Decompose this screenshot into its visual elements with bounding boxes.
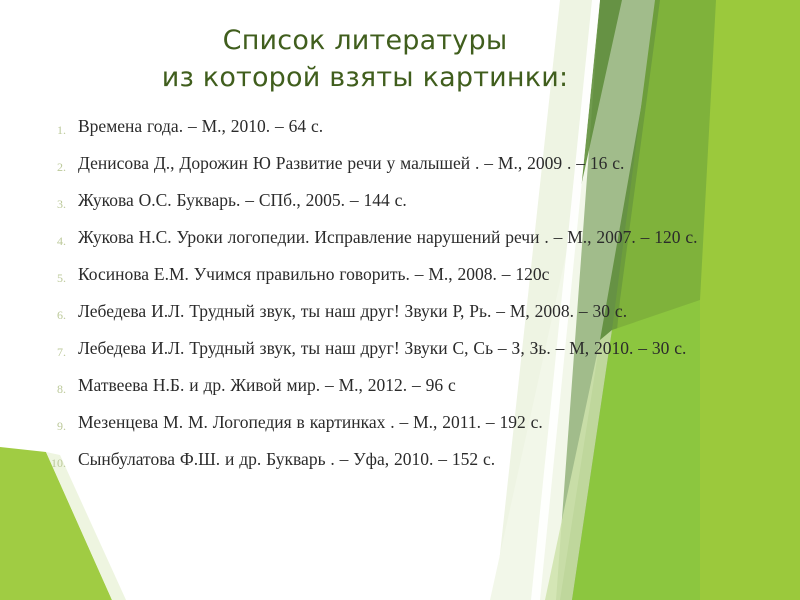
list-item: 7. Лебедева И.Л. Трудный звук, ты наш др…	[22, 337, 784, 363]
list-item-text: Матвеева Н.Б. и др. Живой мир. – М., 201…	[78, 374, 784, 396]
list-item: 4. Жукова Н.С. Уроки логопедии. Исправле…	[22, 226, 784, 252]
list-item-text: Жукова Н.С. Уроки логопедии. Исправление…	[78, 226, 784, 248]
list-item: 1. Времена года. – М., 2010. – 64 с.	[22, 115, 784, 141]
list-item-text: Лебедева И.Л. Трудный звук, ты наш друг!…	[78, 337, 784, 359]
page-title: Список литературы из которой взяты карти…	[0, 22, 730, 96]
list-item: 9. Мезенцева М. М. Логопедия в картинках…	[22, 411, 784, 437]
list-item: 2. Денисова Д., Дорожин Ю Развитие речи …	[22, 152, 784, 178]
list-item-number: 5.	[22, 263, 78, 289]
list-item-number: 10.	[22, 448, 78, 474]
title-line-1: Список литературы	[0, 22, 730, 59]
list-item: 8. Матвеева Н.Б. и др. Живой мир. – М., …	[22, 374, 784, 400]
list-item: 5. Косинова Е.М. Учимся правильно говори…	[22, 263, 784, 289]
list-item-text: Сынбулатова Ф.Ш. и др. Букварь . – Уфа, …	[78, 448, 784, 470]
list-item: 6. Лебедева И.Л. Трудный звук, ты наш др…	[22, 300, 784, 326]
list-item-number: 3.	[22, 189, 78, 215]
list-item-number: 9.	[22, 411, 78, 437]
list-item-text: Жукова О.С. Букварь. – СПб., 2005. – 144…	[78, 189, 784, 211]
list-item-number: 7.	[22, 337, 78, 363]
list-item-text: Денисова Д., Дорожин Ю Развитие речи у м…	[78, 152, 784, 174]
list-item-text: Лебедева И.Л. Трудный звук, ты наш друг!…	[78, 300, 784, 322]
list-item: 10. Сынбулатова Ф.Ш. и др. Букварь . – У…	[22, 448, 784, 474]
list-item: 3. Жукова О.С. Букварь. – СПб., 2005. – …	[22, 189, 784, 215]
list-item-text: Косинова Е.М. Учимся правильно говорить.…	[78, 263, 784, 285]
title-line-2: из которой взяты картинки:	[0, 59, 730, 96]
list-item-number: 4.	[22, 226, 78, 252]
list-item-text: Времена года. – М., 2010. – 64 с.	[78, 115, 784, 137]
slide-content: Список литературы из которой взяты карти…	[0, 0, 800, 600]
list-item-number: 1.	[22, 115, 78, 141]
list-item-number: 6.	[22, 300, 78, 326]
list-item-number: 8.	[22, 374, 78, 400]
reference-list: 1. Времена года. – М., 2010. – 64 с. 2. …	[22, 115, 784, 485]
presentation-slide: Список литературы из которой взяты карти…	[0, 0, 800, 600]
list-item-text: Мезенцева М. М. Логопедия в картинках . …	[78, 411, 784, 433]
list-item-number: 2.	[22, 152, 78, 178]
